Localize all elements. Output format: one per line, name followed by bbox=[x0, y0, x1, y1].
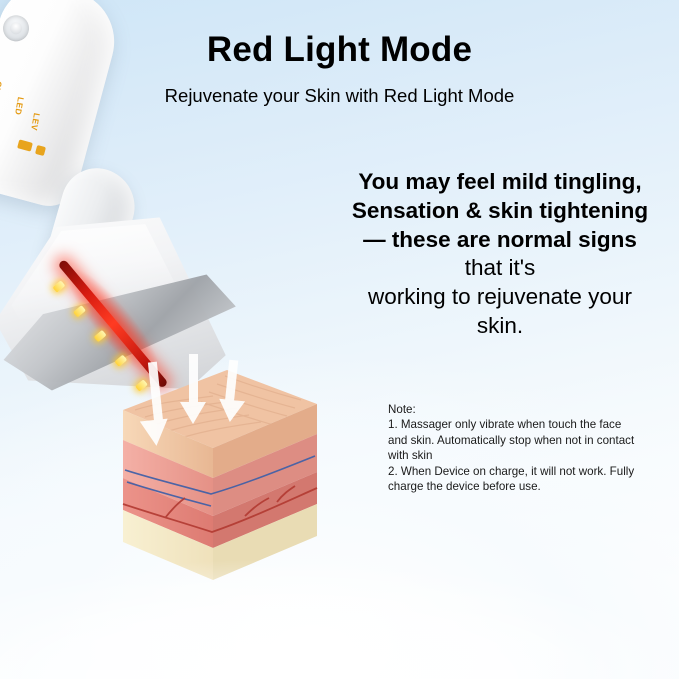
power-button-icon bbox=[0, 11, 34, 47]
benefit-line-4: that it's bbox=[330, 254, 670, 283]
benefit-copy: You may feel mild tingling, Sensation & … bbox=[330, 168, 670, 341]
benefit-line-3: — these are normal signs bbox=[330, 226, 670, 255]
benefit-line-1: You may feel mild tingling, bbox=[330, 168, 670, 197]
note-item-1: 1. Massager only vibrate when touch the … bbox=[388, 417, 638, 463]
skin-cross-section-diagram bbox=[105, 352, 335, 582]
benefit-line-2: Sensation & skin tightening bbox=[330, 197, 670, 226]
benefit-line-6: skin. bbox=[330, 312, 670, 341]
benefit-line-5: working to rejuvenate your bbox=[330, 283, 670, 312]
note-heading: Note: bbox=[388, 402, 638, 417]
note-item-2: 2. When Device on charge, it will not wo… bbox=[388, 464, 638, 495]
skin-diagram-svg bbox=[105, 352, 335, 582]
product-infographic: Red Light Mode Rejuvenate your Skin with… bbox=[0, 0, 679, 679]
bottom-glow bbox=[0, 509, 679, 679]
note-block: Note: 1. Massager only vibrate when touc… bbox=[388, 402, 638, 494]
